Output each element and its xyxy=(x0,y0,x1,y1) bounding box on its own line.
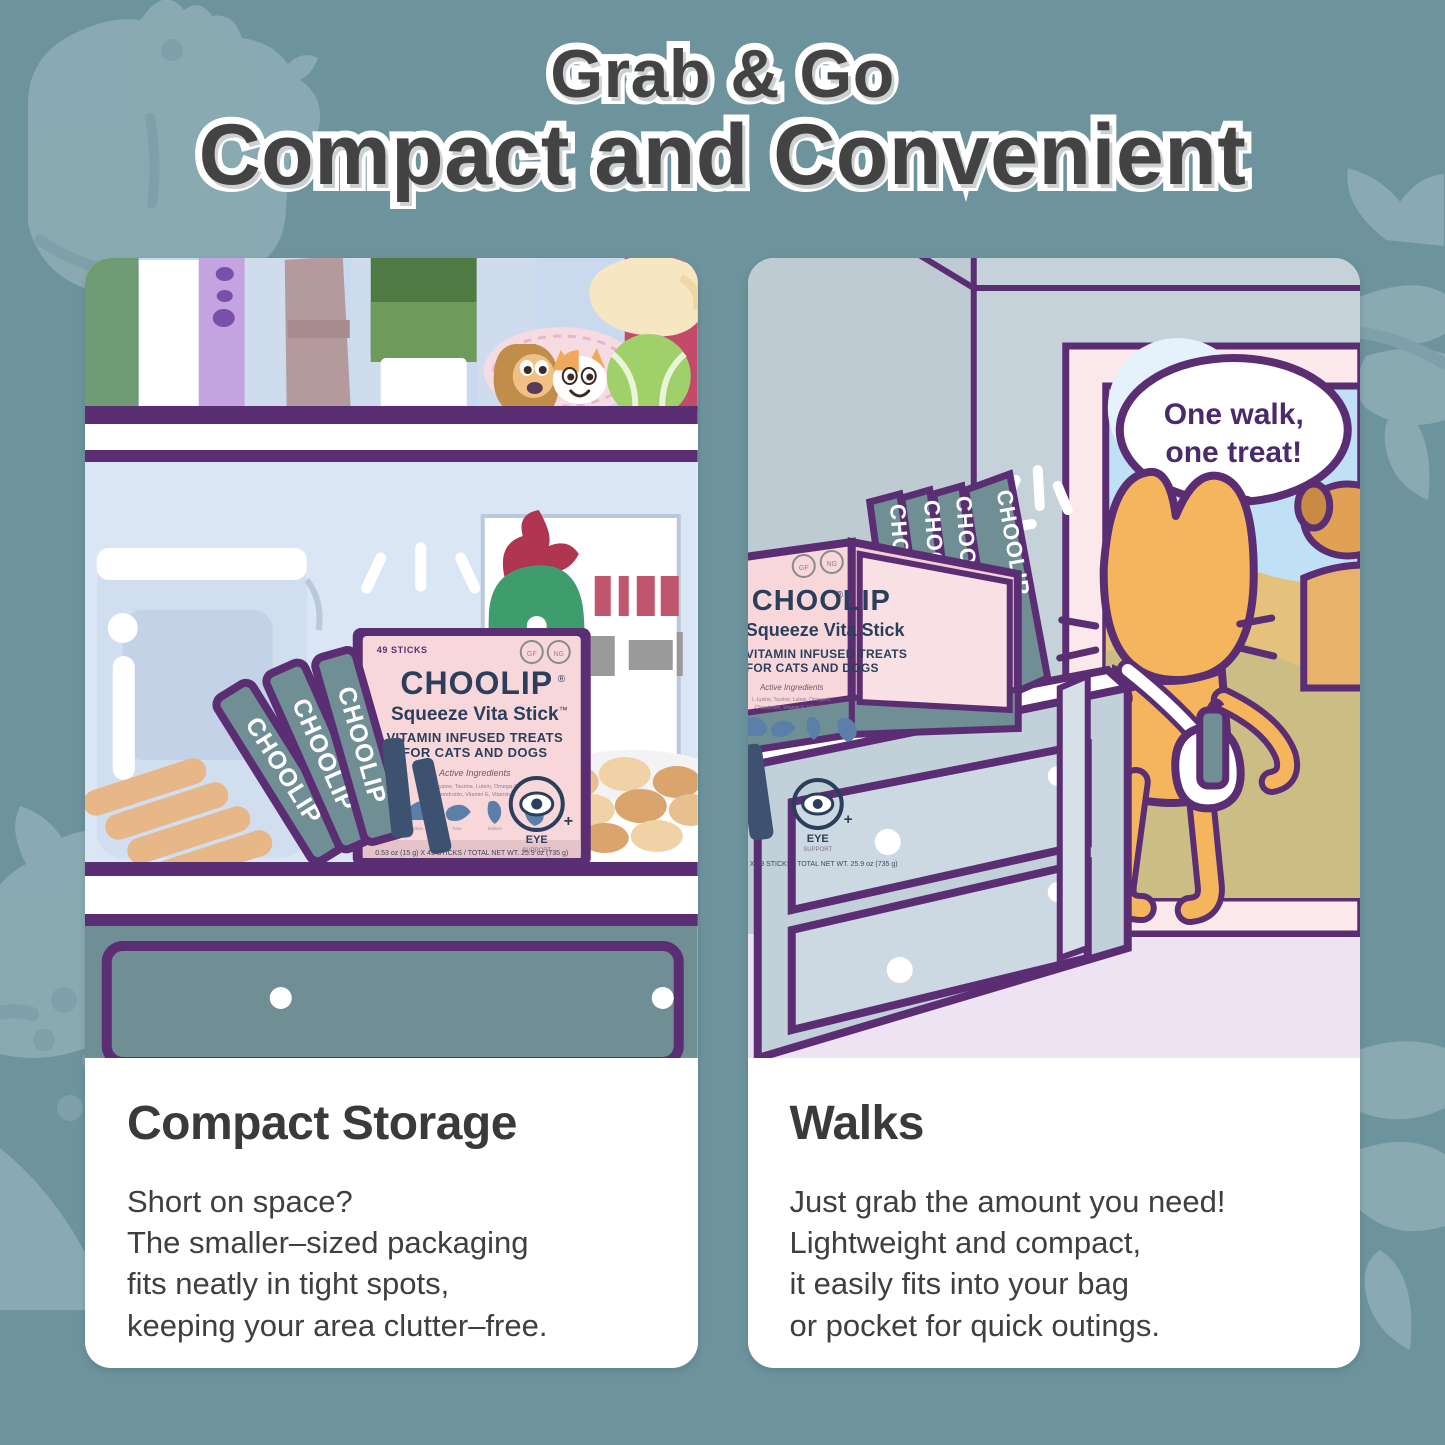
svg-text:®: ® xyxy=(835,590,843,601)
dog-outside xyxy=(1297,484,1360,688)
card-caption-walks: Walks Just grab the amount you need! Lig… xyxy=(748,1058,1361,1346)
svg-text:Active Ingredients: Active Ingredients xyxy=(438,768,511,778)
shelf-purple-book xyxy=(199,258,245,410)
svg-text:Tuna: Tuna xyxy=(452,826,462,831)
card-body: Short on space? The smaller–sized packag… xyxy=(127,1181,658,1346)
title-line-1: Grab & Go xyxy=(0,40,1445,108)
stick-in-bag xyxy=(1199,701,1225,786)
svg-text:+: + xyxy=(564,813,573,830)
svg-text:®: ® xyxy=(558,674,566,685)
svg-text:Active Ingredients: Active Ingredients xyxy=(758,683,823,692)
svg-text:GF: GF xyxy=(798,565,808,572)
drawer-front xyxy=(85,914,698,1058)
title-line-2: Compact and Convenient xyxy=(0,112,1445,198)
svg-text:Chondroitin, Vitamin E, Vitami: Chondroitin, Vitamin E, Vitamin C xyxy=(754,705,828,711)
svg-text:SUPPORT: SUPPORT xyxy=(803,847,832,853)
svg-text:L-Lysine, Taurine, Lutein, Ome: L-Lysine, Taurine, Lutein, Omega-3, xyxy=(431,784,519,790)
svg-text:X 49 STICKS / TOTAL NET WT. 25: X 49 STICKS / TOTAL NET WT. 25.9 oz (735… xyxy=(749,861,897,868)
svg-text:0.53 oz (15 g) X 49 STICKS / T: 0.53 oz (15 g) X 49 STICKS / TOTAL NET W… xyxy=(375,850,568,857)
speech-line-1: One walk, xyxy=(1163,398,1303,431)
svg-text:NG: NG xyxy=(826,561,837,568)
page-title: Grab & Go Compact and Convenient xyxy=(0,40,1445,198)
svg-text:VITAMIN INFUSED TREATS: VITAMIN INFUSED TREATS xyxy=(748,647,907,661)
card-body: Just grab the amount you need! Lightweig… xyxy=(790,1181,1321,1346)
speech-line-2: one treat! xyxy=(1165,436,1302,469)
tennis-ball xyxy=(607,334,691,418)
illustration-entryway: One walk, one treat! xyxy=(748,258,1361,1058)
svg-text:GF: GF xyxy=(527,651,537,658)
drawer-knob-right xyxy=(652,987,674,1009)
svg-text:Squeeze Vita Stick: Squeeze Vita Stick xyxy=(391,704,559,725)
svg-text:L-Lysine, Taurine, Lutein, Ome: L-Lysine, Taurine, Lutein, Omega-3, xyxy=(752,697,831,703)
drawer-knob-left xyxy=(270,987,292,1009)
feature-card-list: CHOOLIP CHOOLIP CHOOLIP 49 STICKS xyxy=(85,258,1360,1368)
svg-text:Salmon: Salmon xyxy=(488,826,503,831)
svg-text:FOR CATS AND DOGS: FOR CATS AND DOGS xyxy=(402,745,547,760)
svg-text:+: + xyxy=(843,811,852,828)
svg-text:CHOOLIP: CHOOLIP xyxy=(751,585,890,617)
cabinet-knob-4 xyxy=(886,957,912,983)
feature-card-compact-storage: CHOOLIP CHOOLIP CHOOLIP 49 STICKS xyxy=(85,258,698,1368)
cabinet-knob-2 xyxy=(874,829,900,855)
svg-text:EYE: EYE xyxy=(526,834,548,846)
svg-text:™: ™ xyxy=(559,705,568,715)
svg-text:FOR CATS AND DOGS: FOR CATS AND DOGS xyxy=(748,661,879,675)
shelf-board-top xyxy=(85,406,698,424)
shelf-white-book xyxy=(139,260,199,410)
illustration-pantry-shelf: CHOOLIP CHOOLIP CHOOLIP 49 STICKS xyxy=(85,258,698,1058)
shelf-green-box xyxy=(85,258,139,408)
svg-text:CHOOLIP: CHOOLIP xyxy=(400,665,553,701)
card-title: Compact Storage xyxy=(127,1096,658,1151)
svg-text:EYE: EYE xyxy=(806,833,828,845)
card-caption-compact-storage: Compact Storage Short on space? The smal… xyxy=(85,1058,698,1346)
svg-text:VITAMIN INFUSED TREATS: VITAMIN INFUSED TREATS xyxy=(386,730,563,745)
svg-text:NG: NG xyxy=(554,651,565,658)
svg-text:49 STICKS: 49 STICKS xyxy=(377,645,428,655)
feature-card-walks: One walk, one treat! xyxy=(748,258,1361,1368)
card-title: Walks xyxy=(790,1096,1321,1151)
counter-edge-top xyxy=(85,862,698,876)
svg-text:Squeeze Vita Stick: Squeeze Vita Stick xyxy=(748,620,905,640)
svg-text:Chondroitin, Vitamin E, Vitami: Chondroitin, Vitamin E, Vitamin C xyxy=(434,792,515,798)
